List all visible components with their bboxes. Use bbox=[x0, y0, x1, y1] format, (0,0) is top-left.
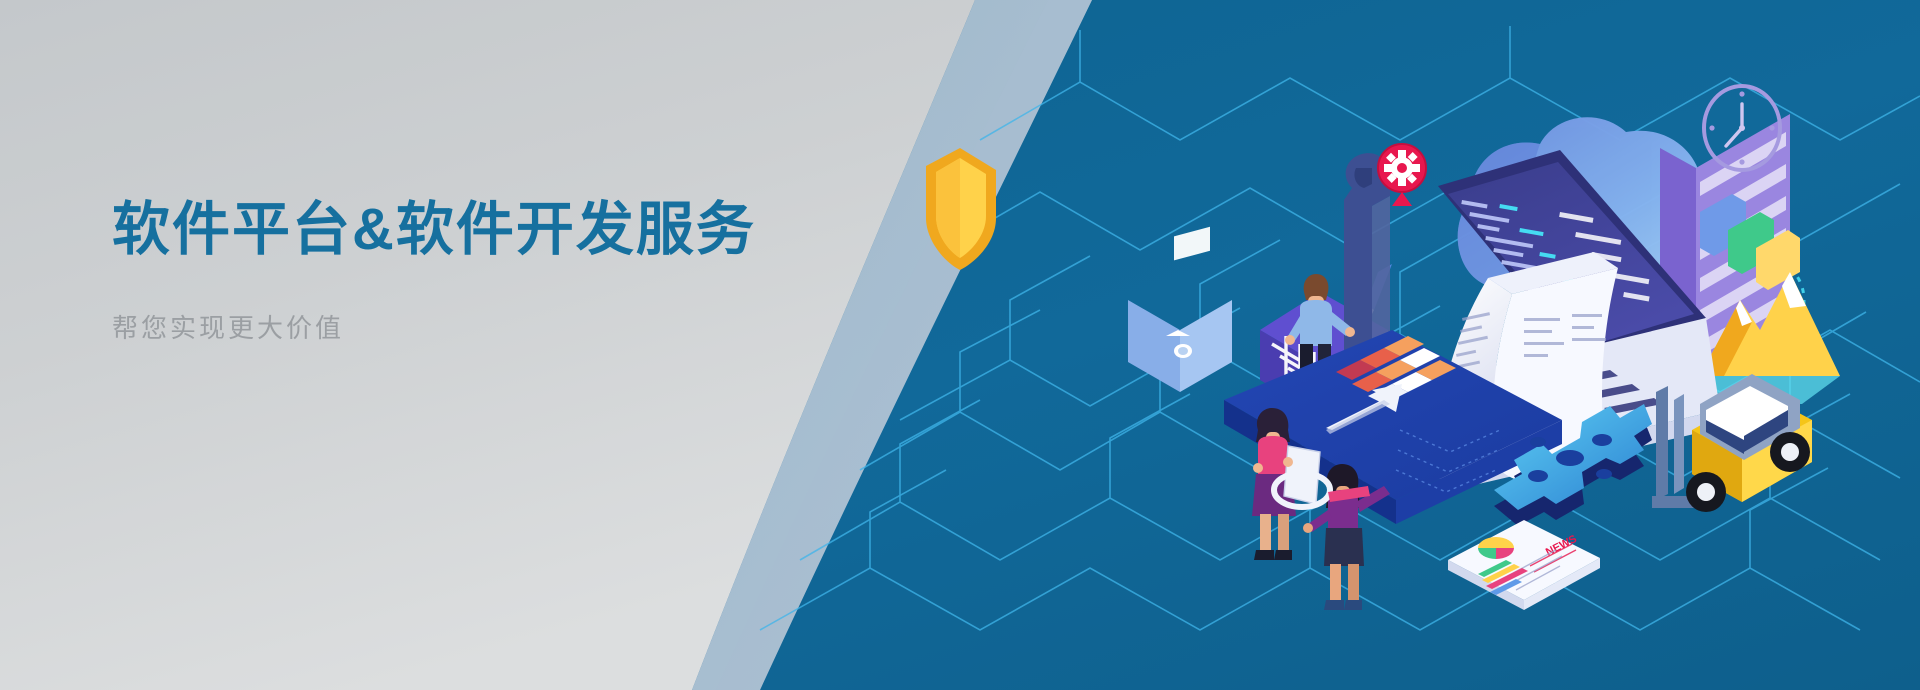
camera-icon bbox=[1128, 227, 1232, 392]
hero-text-block: 软件平台&软件开发服务 帮您实现更大价值 bbox=[112, 196, 756, 345]
page-subtitle: 帮您实现更大价值 bbox=[112, 308, 756, 345]
hero-banner: NEWS bbox=[0, 0, 1920, 690]
news-card: NEWS bbox=[1448, 520, 1600, 610]
shield-icon bbox=[926, 148, 996, 270]
pie-chart-icon bbox=[1478, 537, 1514, 559]
page-title: 软件平台&软件开发服务 bbox=[112, 196, 756, 264]
